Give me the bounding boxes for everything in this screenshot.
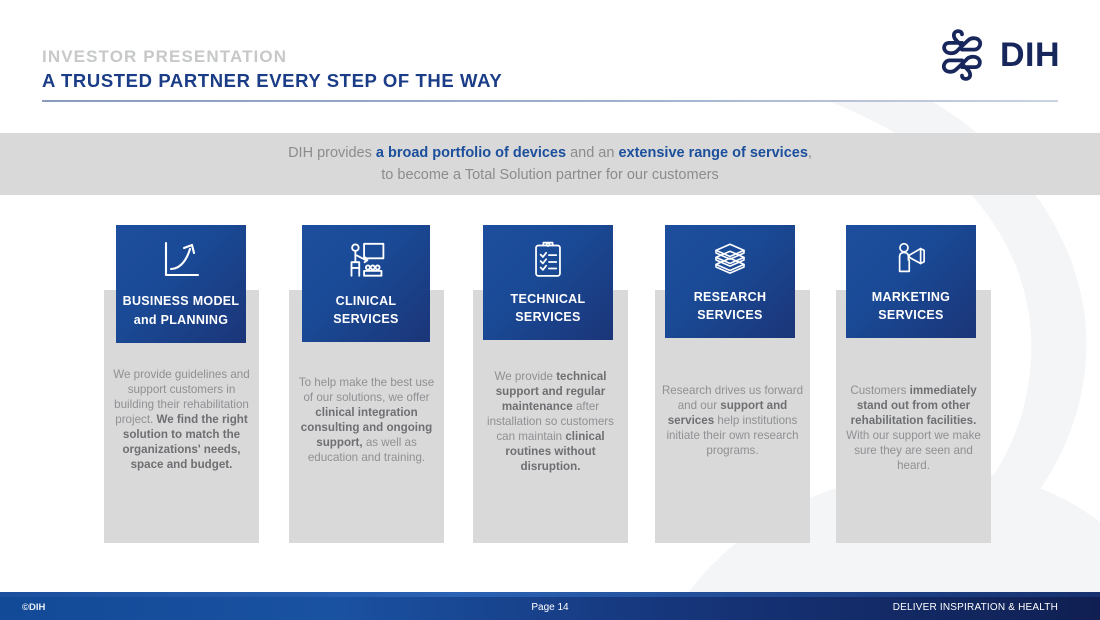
card-title-line2: and PLANNING	[134, 313, 229, 327]
logo-wordmark: DIH	[1000, 38, 1060, 72]
card-body: To help make the best use of our solutio…	[289, 376, 444, 466]
banner-line-1: DIH provides a broad portfolio of device…	[288, 142, 812, 164]
card-header: RESEARCH SERVICES	[665, 225, 795, 338]
banner-highlight-services: extensive range of services	[618, 145, 807, 161]
card-body: Customers immediately stand out from oth…	[836, 384, 991, 474]
banner-line-2: to become a Total Solution partner for o…	[381, 164, 718, 186]
service-card-clinical[interactable]: CLINICAL SERVICES To help make the best …	[277, 205, 477, 565]
header-divider	[42, 100, 1058, 102]
card-title-line1: CLINICAL	[336, 294, 397, 308]
stacked-books-icon	[708, 239, 752, 278]
banner-highlight-devices: a broad portfolio of devices	[376, 145, 566, 161]
presenter-whiteboard-icon	[344, 239, 388, 282]
card-body: Research drives us forward and our suppo…	[655, 384, 810, 459]
card-title-line2: SERVICES	[878, 308, 943, 322]
card-title-line1: RESEARCH	[694, 290, 767, 304]
slide-footer: ©DIH Page 14 DELIVER INSPIRATION & HEALT…	[0, 597, 1100, 620]
card-body-segment: To help make the best use of our solutio…	[299, 376, 434, 404]
service-cards: BUSINESS MODEL and PLANNING We provide g…	[0, 205, 1100, 565]
dih-logo-mark-icon	[935, 28, 989, 82]
card-header: TECHNICAL SERVICES	[483, 225, 613, 340]
footer-tagline: DELIVER INSPIRATION & HEALTH	[893, 602, 1058, 613]
growth-chart-icon	[159, 238, 203, 282]
card-header: CLINICAL SERVICES	[302, 225, 430, 342]
service-card-research[interactable]: RESEARCH SERVICES Research drives us for…	[643, 205, 843, 565]
card-body: We provide technical support and regular…	[473, 370, 628, 475]
card-body-segment: We provide	[495, 370, 557, 383]
card-title-line1: MARKETING	[872, 290, 950, 304]
card-title-line2: SERVICES	[697, 308, 762, 322]
card-body-segment: Customers	[850, 384, 909, 397]
megaphone-person-icon	[889, 239, 933, 278]
card-body: We provide guidelines and support custom…	[104, 368, 259, 473]
service-card-business-model[interactable]: BUSINESS MODEL and PLANNING We provide g…	[92, 205, 292, 565]
service-card-technical[interactable]: TECHNICAL SERVICES We provide technical …	[461, 205, 661, 565]
dih-logo: DIH	[935, 28, 1060, 82]
card-title-line1: BUSINESS MODEL	[123, 294, 240, 308]
card-title: CLINICAL SERVICES	[333, 292, 398, 330]
card-title: MARKETING SERVICES	[872, 288, 950, 326]
card-title: BUSINESS MODEL and PLANNING	[123, 292, 240, 330]
eyebrow-label: INVESTOR PRESENTATION	[42, 47, 287, 67]
page-title: A TRUSTED PARTNER EVERY STEP OF THE WAY	[42, 70, 502, 92]
card-title-line1: TECHNICAL	[511, 292, 586, 306]
card-title-line2: SERVICES	[333, 312, 398, 326]
summary-banner: DIH provides a broad portfolio of device…	[0, 133, 1100, 195]
card-body-segment-2: With our support we make sure they are s…	[846, 429, 981, 472]
banner-text-2: and an	[566, 145, 618, 161]
service-card-marketing[interactable]: MARKETING SERVICES Customers immediately…	[824, 205, 1024, 565]
card-title: TECHNICAL SERVICES	[511, 290, 586, 328]
card-header: MARKETING SERVICES	[846, 225, 976, 338]
card-header: BUSINESS MODEL and PLANNING	[116, 225, 246, 343]
banner-text-1: DIH provides	[288, 145, 376, 161]
card-title: RESEARCH SERVICES	[694, 288, 767, 326]
slide-header: INVESTOR PRESENTATION A TRUSTED PARTNER …	[0, 0, 1100, 108]
card-title-line2: SERVICES	[515, 310, 580, 324]
clipboard-checklist-icon	[526, 239, 570, 280]
banner-text-3: ,	[808, 145, 812, 161]
